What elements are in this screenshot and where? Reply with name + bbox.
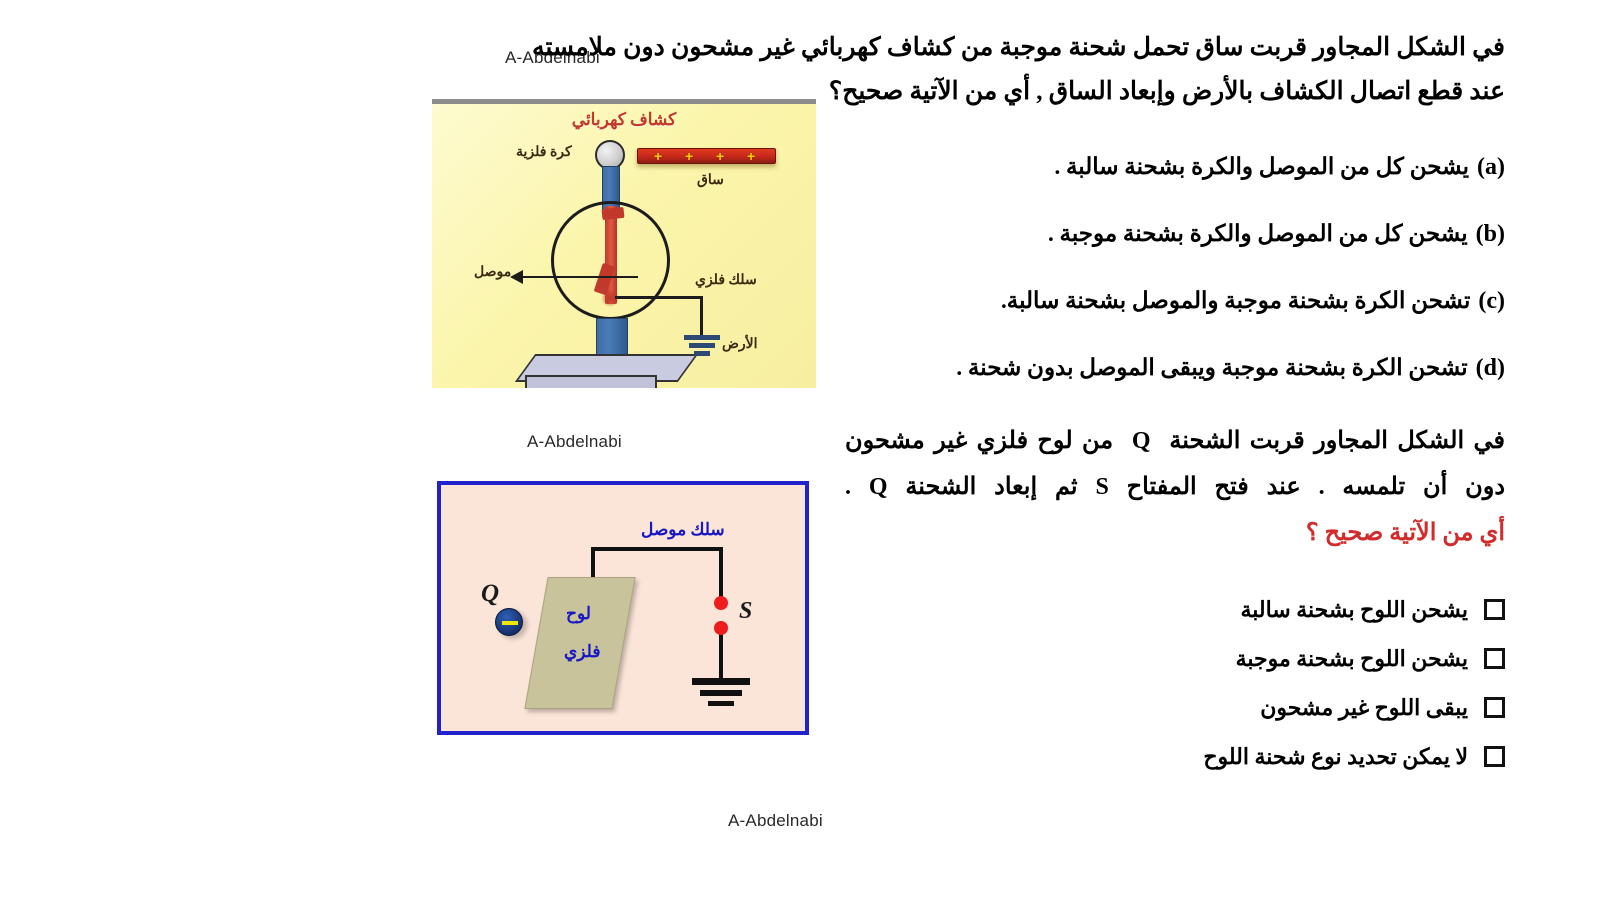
figure-2-label-plate-line-2: فلزي xyxy=(564,642,600,662)
option-text-d: تشحن الكرة بشحنة موجبة ويبقى الموصل بدون… xyxy=(956,353,1467,383)
q2-charge-symbol-q: Q xyxy=(1132,418,1151,464)
option-letter-a: (a) xyxy=(1477,154,1505,181)
q2-switch-symbol-s: S xyxy=(1095,464,1108,510)
earth-wire-vertical xyxy=(700,296,703,336)
figure-2-charge-label-q: Q xyxy=(481,580,499,608)
checkbox-row-3[interactable]: يبقى اللوح غير مشحون xyxy=(1105,683,1505,732)
figure-2-switch-label-s: S xyxy=(739,598,752,625)
figure-1-label-earth: الأرض xyxy=(722,336,758,353)
q2-l2-period: . xyxy=(845,474,851,500)
figure-1-label-ball: كرة فلزية xyxy=(516,144,572,161)
plus-sign-icon-1: + xyxy=(654,148,662,164)
figure-1-label-wire: سلك فلزي xyxy=(695,272,757,289)
ground-icon-bar-3 xyxy=(694,351,710,356)
conductor-arrow-line xyxy=(520,276,638,278)
question-2-options: يشحن اللوح بشحنة سالبة يشحن اللوح بشحنة … xyxy=(1105,585,1505,781)
option-letter-b: (b) xyxy=(1476,221,1505,248)
ground-icon-bar-3 xyxy=(708,701,734,706)
figure-1-title: كشاف كهربائي xyxy=(572,110,676,130)
checkbox-label-3: يبقى اللوح غير مشحون xyxy=(1260,695,1468,721)
q2-l1-part-a: في الشكل المجاور قربت الشحنة xyxy=(1169,428,1505,454)
figure-2-label-wire: سلك موصل xyxy=(641,520,725,540)
checkbox-label-4: لا يمكن تحديد نوع شحنة اللوح xyxy=(1203,744,1468,770)
checkbox-icon-1[interactable] xyxy=(1484,599,1505,620)
wire-right-vertical-lower xyxy=(719,628,723,681)
plus-sign-icon-2: + xyxy=(685,148,693,164)
electroscope-base-front xyxy=(525,375,657,388)
ground-icon-bar-1 xyxy=(692,678,750,685)
wire-right-vertical-upper xyxy=(719,547,723,600)
q2-charge-symbol-q2: Q xyxy=(869,464,888,510)
wire-top-horizontal xyxy=(591,547,723,551)
ground-icon-bar-2 xyxy=(700,690,742,696)
plus-sign-icon-4: + xyxy=(747,148,755,164)
electroscope-leaf-upper xyxy=(601,207,624,220)
watermark-bottom: A-Abdelnabi xyxy=(728,811,823,831)
question-2-text: في الشكل المجاور قربت الشحنة Q من لوح فل… xyxy=(845,418,1505,510)
checkbox-icon-2[interactable] xyxy=(1484,648,1505,669)
question-2-prompt: أي من الآتية صحيح ؟ xyxy=(1306,518,1505,547)
checkbox-row-4[interactable]: لا يمكن تحديد نوع شحنة اللوح xyxy=(1105,732,1505,781)
q2-l2-part-b: ثم إبعاد الشحنة xyxy=(905,474,1077,500)
ground-icon-bar-1 xyxy=(684,335,720,340)
worksheet-page: A-Abdelnabi A-Abdelnabi A-Abdelnabi في ا… xyxy=(0,0,1600,900)
checkbox-icon-4[interactable] xyxy=(1484,746,1505,767)
option-text-a: يشحن كل من الموصل والكرة بشحنة سالبة . xyxy=(1054,152,1469,182)
figure-1-content: كشاف كهربائي + + + + xyxy=(432,104,816,388)
figure-2-label-plate-line-1: لوح xyxy=(566,604,591,624)
negative-charge-icon xyxy=(495,608,523,636)
checkbox-label-2: يشحن اللوح بشحنة موجبة xyxy=(1236,646,1468,672)
figure-electroscope: كشاف كهربائي + + + + xyxy=(432,99,816,388)
switch-contact-dot-top[interactable] xyxy=(714,596,728,610)
minus-sign-icon xyxy=(502,621,518,625)
checkbox-label-1: يشحن اللوح بشحنة سالبة xyxy=(1240,597,1468,623)
watermark-middle: A-Abdelnabi xyxy=(527,432,622,452)
ground-icon-bar-2 xyxy=(689,343,715,348)
option-letter-d: (d) xyxy=(1476,355,1505,382)
q2-l2-part-a: دون أن تلمسه . عند فتح المفتاح xyxy=(1127,474,1505,500)
figure-1-label-rod: ساق xyxy=(697,172,724,189)
question-2-line-2: دون أن تلمسه . عند فتح المفتاح S ثم إبعا… xyxy=(845,464,1505,510)
checkbox-row-1[interactable]: يشحن اللوح بشحنة سالبة xyxy=(1105,585,1505,634)
checkbox-icon-3[interactable] xyxy=(1484,697,1505,718)
option-letter-c: (c) xyxy=(1478,288,1505,315)
checkbox-row-2[interactable]: يشحن اللوح بشحنة موجبة xyxy=(1105,634,1505,683)
figure-plate-switch: سلك موصل لوح فلزي Q S xyxy=(437,481,809,735)
option-text-b: يشحن كل من الموصل والكرة بشحنة موجبة . xyxy=(1048,219,1468,249)
question-2-line-1: في الشكل المجاور قربت الشحنة Q من لوح فل… xyxy=(845,418,1505,464)
q2-l1-part-b: من لوح فلزي غير مشحون xyxy=(845,428,1113,454)
plus-sign-icon-3: + xyxy=(716,148,724,164)
switch-contact-dot-bottom[interactable] xyxy=(714,621,728,635)
figure-1-label-conductor: موصل xyxy=(474,264,511,281)
conductor-arrow-head-icon xyxy=(510,270,523,284)
question-1-line-1: في الشكل المجاور قربت ساق تحمل شحنة موجب… xyxy=(665,28,1505,68)
option-text-c: تشحن الكرة بشحنة موجبة والموصل بشحنة سال… xyxy=(1001,286,1470,316)
earth-wire-horizontal xyxy=(615,296,703,299)
